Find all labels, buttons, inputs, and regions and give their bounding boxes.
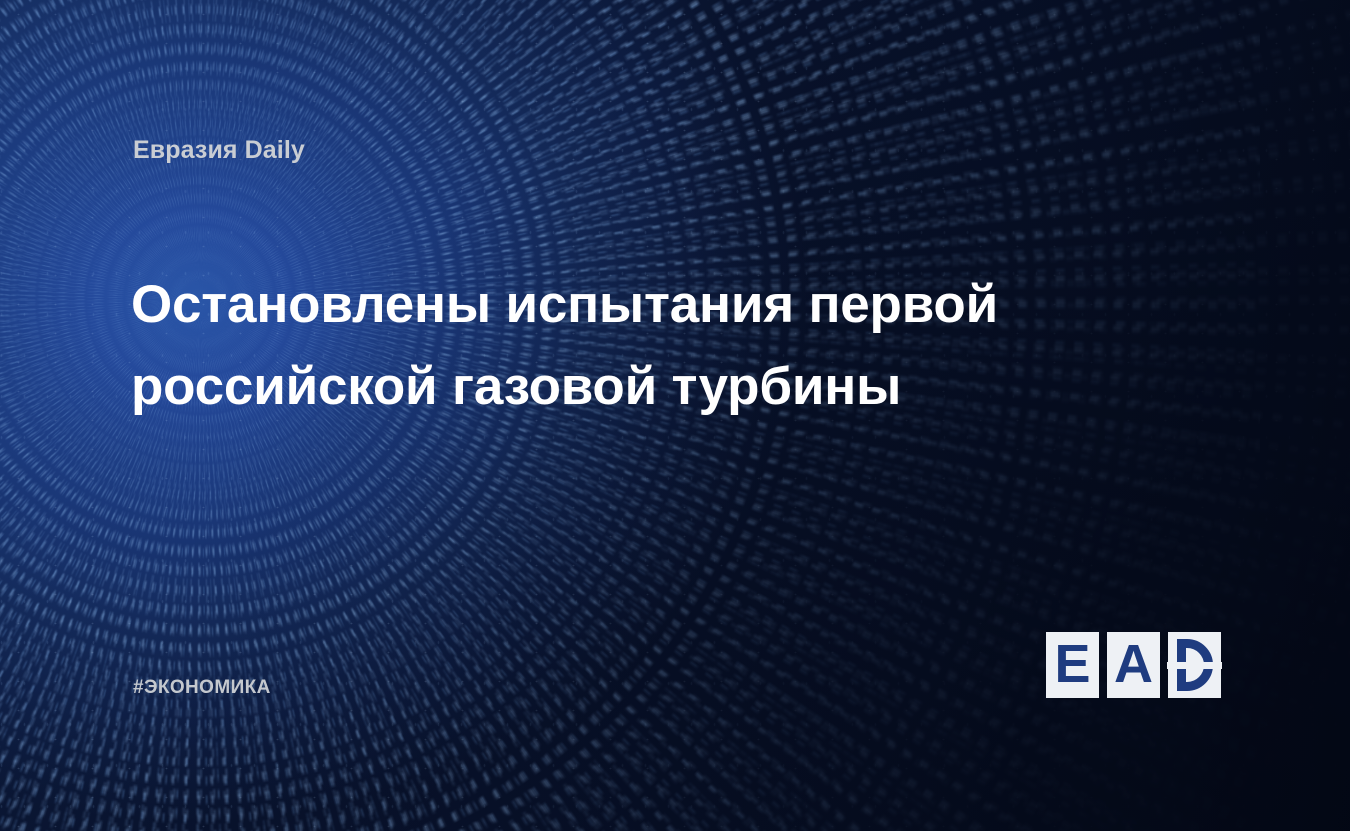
ead-logo[interactable]: E A [1046, 632, 1221, 698]
letter-d-split-gap [1167, 662, 1222, 669]
logo-tile-e: E [1046, 632, 1099, 698]
logo-tile-a: A [1107, 632, 1160, 698]
logo-tile-d [1168, 632, 1221, 698]
card-content: Евразия Daily Остановлены испытания перв… [0, 0, 1350, 831]
letter-e-glyph: E [1054, 637, 1090, 691]
category-tag[interactable]: #ЭКОНОМИКА [133, 677, 271, 699]
page-title: Остановлены испытания первой российской … [131, 264, 1041, 428]
letter-d-stem-bottom [1177, 669, 1186, 691]
letter-a-glyph: A [1114, 637, 1153, 691]
brand-name: Евразия Daily [133, 136, 305, 165]
news-card: Евразия Daily Остановлены испытания перв… [0, 0, 1350, 831]
letter-d-stem-top [1177, 639, 1186, 662]
